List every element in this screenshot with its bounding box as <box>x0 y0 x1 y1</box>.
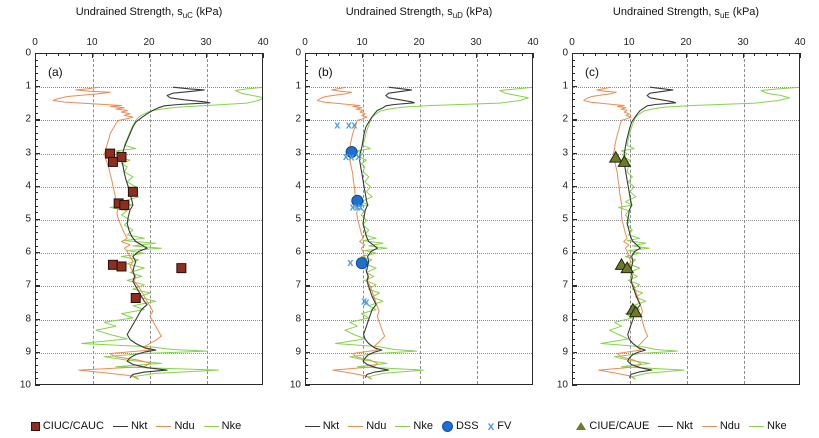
y-tick-minor <box>572 332 575 333</box>
y-tick-minor <box>572 339 575 340</box>
series-canvas-a <box>36 54 262 384</box>
x-tick-minor <box>316 53 317 56</box>
y-tick-minor <box>305 212 308 213</box>
y-tick-minor <box>572 279 575 280</box>
y-tick-label: 10 <box>548 380 568 391</box>
x-tick-label: 30 <box>737 37 748 48</box>
plot-inner-b: xxxxxxxxxxxx <box>306 54 532 384</box>
x-tick-minor <box>46 53 47 56</box>
y-tick-minor <box>572 372 575 373</box>
y-tick-label: 6 <box>11 247 31 258</box>
y-tick-minor <box>35 372 38 373</box>
series-line-ndu <box>53 87 161 379</box>
x-tick-minor <box>351 53 352 56</box>
x-tick-minor <box>595 53 596 56</box>
legend-label: Ndu <box>720 420 740 432</box>
y-tick-minor <box>572 378 575 379</box>
x-tick-minor <box>510 53 511 56</box>
panel-letter-b: (b) <box>318 65 333 79</box>
legend-label: Ndu <box>174 420 194 432</box>
y-tick-minor <box>305 60 308 61</box>
y-tick-label: 4 <box>11 180 31 191</box>
x-tick-minor <box>640 53 641 56</box>
x-tick-minor <box>675 53 676 56</box>
y-tick-minor <box>305 272 308 273</box>
y-tick-minor <box>35 299 38 300</box>
x-tick-minor <box>522 53 523 56</box>
y-tick-minor <box>572 166 575 167</box>
title-subscript: uE <box>720 11 730 20</box>
legend-item-nkt: Nkt <box>113 420 148 432</box>
y-tick-major <box>305 252 310 253</box>
y-tick-minor <box>305 166 308 167</box>
x-tick-label: 20 <box>680 37 691 48</box>
x-tick-minor <box>373 53 374 56</box>
y-tick-minor <box>572 239 575 240</box>
y-tick-minor <box>35 332 38 333</box>
y-tick-minor <box>305 365 308 366</box>
y-tick-minor <box>305 325 308 326</box>
y-tick-minor <box>572 305 575 306</box>
y-tick-minor <box>305 259 308 260</box>
y-tick-minor <box>35 199 38 200</box>
legend-item-nkt: Nkt <box>658 420 693 432</box>
y-tick-minor <box>35 66 38 67</box>
y-tick-major <box>35 252 40 253</box>
plot-area-a <box>35 53 263 385</box>
y-tick-label: 2 <box>548 114 568 125</box>
x-tick-major <box>476 53 477 58</box>
y-tick-minor <box>305 265 308 266</box>
panel-a: Undrained Strength, suC (kPa)(a)01020304… <box>0 0 270 438</box>
x-tick-minor <box>183 53 184 56</box>
panel-letter-a: (a) <box>48 65 63 79</box>
y-tick-minor <box>35 80 38 81</box>
y-tick-major <box>35 53 40 54</box>
y-tick-major <box>572 352 577 353</box>
legend-item-ciuc-cauc: CIUC/CAUC <box>31 420 104 432</box>
y-tick-minor <box>572 159 575 160</box>
y-tick-minor <box>35 305 38 306</box>
y-tick-minor <box>572 226 575 227</box>
x-tick-minor <box>115 53 116 56</box>
marker-ciuc-cauc <box>117 152 126 161</box>
x-tick-minor <box>652 53 653 56</box>
legend-line-swatch <box>658 426 673 427</box>
y-tick-minor <box>572 66 575 67</box>
x-tick-minor <box>697 53 698 56</box>
y-tick-minor <box>305 80 308 81</box>
x-tick-label: 40 <box>527 37 538 48</box>
y-tick-minor <box>572 312 575 313</box>
y-tick-minor <box>35 133 38 134</box>
y-tick-minor <box>35 73 38 74</box>
plot-area-c <box>572 53 800 385</box>
y-tick-minor <box>572 133 575 134</box>
y-tick-minor <box>305 113 308 114</box>
y-tick-minor <box>35 113 38 114</box>
y-tick-label: 0 <box>548 48 568 59</box>
y-tick-minor <box>572 272 575 273</box>
y-tick-minor <box>35 259 38 260</box>
y-tick-major <box>35 352 40 353</box>
legend-item-nke: Nke <box>204 420 242 432</box>
panel-c: Undrained Strength, suE (kPa)(c)01020304… <box>544 0 819 438</box>
y-tick-minor <box>572 199 575 200</box>
legend-line-swatch <box>348 426 363 427</box>
title-prefix: Undrained Strength, s <box>346 6 453 18</box>
x-tick-minor <box>709 53 710 56</box>
legend-c: CIUE/CAUENktNduNke <box>544 420 819 432</box>
figure-root: Undrained Strength, suC (kPa)(a)01020304… <box>0 0 819 438</box>
y-tick-label: 9 <box>548 346 568 357</box>
x-tick-major <box>629 53 630 58</box>
y-tick-major <box>35 285 40 286</box>
panel-letter-c: (c) <box>585 65 599 79</box>
y-tick-minor <box>572 93 575 94</box>
y-tick-minor <box>305 133 308 134</box>
y-tick-minor <box>35 139 38 140</box>
y-tick-minor <box>305 358 308 359</box>
y-tick-minor <box>572 139 575 140</box>
y-tick-minor <box>305 93 308 94</box>
x-tick-minor <box>487 53 488 56</box>
y-tick-minor <box>572 179 575 180</box>
x-tick-major <box>686 53 687 58</box>
y-tick-minor <box>305 99 308 100</box>
x-tick-label: 10 <box>86 37 97 48</box>
y-tick-minor <box>572 265 575 266</box>
legend-label: Nke <box>767 420 787 432</box>
x-tick-major <box>800 53 801 58</box>
y-tick-major <box>35 86 40 87</box>
y-tick-minor <box>305 66 308 67</box>
x-tick-minor <box>754 53 755 56</box>
y-tick-minor <box>35 212 38 213</box>
series-canvas-c <box>573 54 799 384</box>
y-tick-minor <box>305 192 308 193</box>
plot-inner-a <box>36 54 262 384</box>
y-tick-minor <box>572 73 575 74</box>
y-tick-minor <box>35 126 38 127</box>
y-tick-minor <box>305 226 308 227</box>
x-tick-major <box>533 53 534 58</box>
y-tick-minor <box>305 345 308 346</box>
x-tick-minor <box>160 53 161 56</box>
panel-title-b: Undrained Strength, suD (kPa) <box>305 6 533 20</box>
marker-ciuc-cauc <box>106 149 115 158</box>
x-tick-minor <box>138 53 139 56</box>
y-tick-minor <box>572 146 575 147</box>
y-tick-label: 10 <box>281 380 301 391</box>
y-tick-label: 7 <box>11 280 31 291</box>
marker-fv: x <box>334 119 341 131</box>
y-tick-major <box>305 285 310 286</box>
x-tick-minor <box>81 53 82 56</box>
legend-circle-swatch <box>442 421 453 432</box>
y-tick-label: 0 <box>11 48 31 59</box>
y-tick-major <box>572 153 577 154</box>
x-tick-minor <box>229 53 230 56</box>
y-tick-major <box>572 119 577 120</box>
x-tick-minor <box>396 53 397 56</box>
y-tick-label: 1 <box>11 81 31 92</box>
y-tick-major <box>305 352 310 353</box>
y-tick-major <box>305 86 310 87</box>
x-tick-label: 10 <box>623 37 634 48</box>
y-tick-minor <box>572 232 575 233</box>
x-tick-minor <box>217 53 218 56</box>
y-tick-minor <box>305 378 308 379</box>
legend-label: Nkt <box>676 420 693 432</box>
y-tick-minor <box>572 126 575 127</box>
y-tick-minor <box>572 345 575 346</box>
series-canvas-b: xxxxxxxxxxxx <box>306 54 532 384</box>
plot-area-b: xxxxxxxxxxxx <box>305 53 533 385</box>
y-tick-minor <box>305 279 308 280</box>
legend-label: Ndu <box>366 420 386 432</box>
y-tick-minor <box>35 265 38 266</box>
y-tick-label: 5 <box>548 214 568 225</box>
x-tick-major <box>149 53 150 58</box>
marker-ciue-caue <box>610 152 622 163</box>
marker-ciuc-cauc <box>108 157 117 166</box>
y-tick-minor <box>305 146 308 147</box>
x-tick-minor <box>103 53 104 56</box>
legend-item-dss: DSS <box>442 420 479 432</box>
x-tick-minor <box>442 53 443 56</box>
y-tick-minor <box>305 206 308 207</box>
y-tick-minor <box>572 192 575 193</box>
legend-label: Nkt <box>131 420 148 432</box>
y-tick-major <box>305 186 310 187</box>
y-tick-minor <box>572 246 575 247</box>
y-tick-major <box>35 119 40 120</box>
y-tick-major <box>35 319 40 320</box>
legend-line-swatch <box>156 426 171 427</box>
legend-item-fv: xFV <box>488 420 512 432</box>
x-tick-label: 0 <box>32 37 38 48</box>
legend-item-ciue-caue: CIUE/CAUE <box>576 420 649 432</box>
x-tick-minor <box>766 53 767 56</box>
y-tick-major <box>572 252 577 253</box>
y-tick-minor <box>305 292 308 293</box>
y-tick-minor <box>572 365 575 366</box>
y-tick-minor <box>35 246 38 247</box>
y-tick-minor <box>35 93 38 94</box>
x-tick-minor <box>499 53 500 56</box>
y-tick-minor <box>35 173 38 174</box>
panel-b: Undrained Strength, suD (kPa)xxxxxxxxxxx… <box>272 0 542 438</box>
legend-line-swatch <box>305 426 320 427</box>
marker-ciuc-cauc <box>177 264 186 273</box>
legend-label: Nkt <box>323 420 340 432</box>
title-subscript: uC <box>183 11 193 20</box>
y-tick-minor <box>305 139 308 140</box>
marker-ciuc-cauc <box>108 260 117 269</box>
y-tick-label: 0 <box>281 48 301 59</box>
y-tick-label: 4 <box>548 180 568 191</box>
marker-ciuc-cauc <box>117 262 126 271</box>
y-tick-minor <box>572 60 575 61</box>
legend-label: CIUE/CAUE <box>589 420 649 432</box>
y-tick-label: 7 <box>281 280 301 291</box>
y-tick-major <box>572 53 577 54</box>
y-tick-minor <box>305 239 308 240</box>
x-tick-major <box>362 53 363 58</box>
y-tick-minor <box>35 146 38 147</box>
x-tick-minor <box>453 53 454 56</box>
y-tick-label: 9 <box>281 346 301 357</box>
y-tick-minor <box>305 246 308 247</box>
y-tick-minor <box>572 80 575 81</box>
series-line-nke <box>601 87 799 379</box>
y-tick-label: 7 <box>548 280 568 291</box>
marker-ciuc-cauc <box>131 294 140 303</box>
title-prefix: Undrained Strength, s <box>76 6 183 18</box>
y-tick-label: 8 <box>281 313 301 324</box>
y-tick-minor <box>305 299 308 300</box>
panel-title-c: Undrained Strength, suE (kPa) <box>572 6 800 20</box>
y-tick-minor <box>35 279 38 280</box>
y-tick-minor <box>35 345 38 346</box>
y-tick-minor <box>35 192 38 193</box>
x-tick-major <box>206 53 207 58</box>
legend-label: CIUC/CAUC <box>43 420 104 432</box>
y-tick-label: 3 <box>11 147 31 158</box>
y-tick-minor <box>305 332 308 333</box>
x-tick-label: 0 <box>569 37 575 48</box>
marker-dss <box>356 258 367 269</box>
y-tick-minor <box>305 173 308 174</box>
y-tick-minor <box>35 106 38 107</box>
x-tick-minor <box>339 53 340 56</box>
legend-square-swatch <box>31 422 40 431</box>
y-tick-label: 4 <box>281 180 301 191</box>
y-tick-minor <box>35 99 38 100</box>
y-tick-minor <box>305 106 308 107</box>
marker-fv: x <box>358 201 365 213</box>
y-tick-major <box>572 219 577 220</box>
y-tick-minor <box>35 325 38 326</box>
x-tick-minor <box>777 53 778 56</box>
marker-fv: x <box>355 151 362 163</box>
x-tick-minor <box>195 53 196 56</box>
x-tick-minor <box>126 53 127 56</box>
y-tick-major <box>305 53 310 54</box>
legend-item-ndu: Ndu <box>348 420 386 432</box>
legend-label: Nke <box>222 420 242 432</box>
y-tick-minor <box>35 166 38 167</box>
y-tick-minor <box>572 299 575 300</box>
x-tick-minor <box>408 53 409 56</box>
legend-a: CIUC/CAUCNktNduNke <box>0 420 272 432</box>
x-tick-major <box>743 53 744 58</box>
marker-ciuc-cauc <box>128 187 137 196</box>
y-tick-minor <box>35 206 38 207</box>
title-suffix: (kPa) <box>463 6 492 18</box>
marker-fv: x <box>351 119 358 131</box>
y-tick-label: 5 <box>11 214 31 225</box>
y-tick-minor <box>35 179 38 180</box>
x-tick-minor <box>606 53 607 56</box>
y-tick-minor <box>305 179 308 180</box>
x-tick-label: 10 <box>356 37 367 48</box>
y-tick-minor <box>572 325 575 326</box>
series-line-nkt <box>624 87 676 378</box>
y-tick-label: 3 <box>548 147 568 158</box>
legend-line-swatch <box>395 426 410 427</box>
y-tick-label: 10 <box>11 380 31 391</box>
y-tick-minor <box>305 339 308 340</box>
y-tick-label: 8 <box>11 313 31 324</box>
x-tick-minor <box>465 53 466 56</box>
y-tick-label: 1 <box>548 81 568 92</box>
legend-triangle-swatch <box>576 422 586 430</box>
y-tick-label: 5 <box>281 214 301 225</box>
y-tick-major <box>572 285 577 286</box>
y-tick-major <box>572 385 577 386</box>
series-line-nkt <box>360 87 415 378</box>
legend-label: Nke <box>413 420 433 432</box>
y-tick-major <box>305 119 310 120</box>
x-tick-label: 40 <box>794 37 805 48</box>
y-tick-minor <box>35 358 38 359</box>
legend-item-ndu: Ndu <box>156 420 194 432</box>
y-tick-minor <box>572 206 575 207</box>
y-tick-major <box>305 153 310 154</box>
x-tick-label: 30 <box>470 37 481 48</box>
y-tick-minor <box>572 212 575 213</box>
x-tick-minor <box>663 53 664 56</box>
x-tick-minor <box>172 53 173 56</box>
x-tick-minor <box>69 53 70 56</box>
y-tick-minor <box>572 99 575 100</box>
y-tick-minor <box>572 358 575 359</box>
x-tick-label: 40 <box>257 37 268 48</box>
x-tick-minor <box>58 53 59 56</box>
x-tick-label: 20 <box>413 37 424 48</box>
marker-ciuc-cauc <box>120 201 129 210</box>
y-tick-minor <box>35 226 38 227</box>
y-tick-minor <box>35 378 38 379</box>
y-tick-label: 2 <box>11 114 31 125</box>
y-tick-minor <box>572 106 575 107</box>
x-tick-label: 0 <box>302 37 308 48</box>
x-tick-major <box>92 53 93 58</box>
legend-b: NktNduNkeDSSxFV <box>272 420 544 432</box>
y-tick-major <box>572 186 577 187</box>
y-tick-major <box>35 186 40 187</box>
x-tick-minor <box>789 53 790 56</box>
y-tick-major <box>305 219 310 220</box>
y-tick-minor <box>572 173 575 174</box>
x-tick-minor <box>430 53 431 56</box>
y-tick-major <box>35 219 40 220</box>
y-tick-label: 2 <box>281 114 301 125</box>
y-tick-minor <box>35 159 38 160</box>
x-tick-major <box>263 53 264 58</box>
series-line-nke <box>82 87 262 379</box>
legend-item-nke: Nke <box>395 420 433 432</box>
title-suffix: (kPa) <box>730 6 759 18</box>
y-tick-minor <box>35 312 38 313</box>
y-tick-minor <box>35 339 38 340</box>
y-tick-minor <box>305 372 308 373</box>
x-tick-minor <box>240 53 241 56</box>
y-tick-minor <box>305 232 308 233</box>
legend-label: DSS <box>456 420 479 432</box>
